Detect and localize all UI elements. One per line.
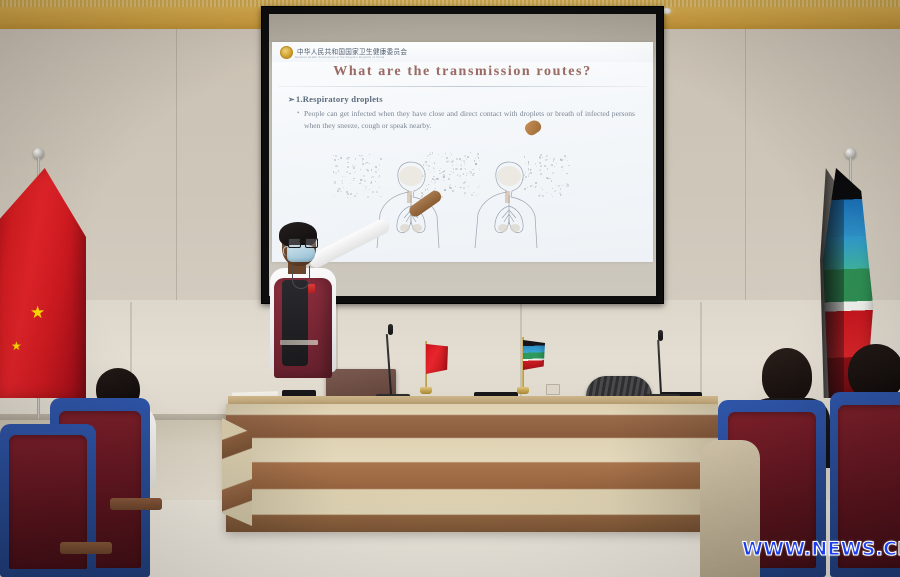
droplet-cloud-left: [332, 154, 380, 198]
microphone-neck: [657, 340, 661, 394]
glasses-lens: [288, 238, 301, 248]
slide-bullet: • People can get infected when they have…: [304, 108, 635, 133]
glasses-lens: [305, 238, 318, 248]
desk-flag-china: [420, 341, 450, 397]
slide-divider: [278, 86, 647, 87]
presenter-lanyard: [292, 266, 310, 289]
presenter: [258, 222, 418, 408]
wall-seam: [176, 29, 177, 329]
desk-flag-cloth-china: [426, 344, 448, 374]
presenter-vest-strap: [280, 340, 318, 345]
tablecloth-corner-fold: [222, 418, 252, 526]
bullet-arrow-icon: ➢: [288, 95, 295, 104]
tablecloth-shading: [226, 404, 718, 532]
news-watermark: WWW.NEWS.CN: [742, 538, 900, 560]
slide-title: What are the transmission routes?: [272, 64, 653, 80]
presenter-badge: [308, 284, 315, 293]
slide-heading-text: 1.Respiratory droplets: [296, 94, 383, 104]
flag-star-icon: ★: [11, 340, 22, 352]
flag-star-icon: ★: [30, 304, 45, 321]
microphone-right: [642, 330, 682, 406]
slide-heading: ➢1.Respiratory droplets: [288, 94, 383, 104]
screen-top-band: [269, 14, 656, 42]
seat-armrest: [110, 498, 162, 510]
droplet-cloud-right: [522, 154, 570, 196]
slide-org-name-en: National Health Commission of the People…: [295, 55, 384, 59]
slide-bullet-text: People can get infected when they have c…: [304, 109, 635, 130]
presenter-vest-panel: [282, 280, 308, 366]
presenter-glasses-icon: [288, 238, 317, 246]
desk-flag-base: [420, 387, 432, 394]
bullet-dot-icon: •: [297, 108, 299, 119]
wall-seam: [745, 29, 746, 329]
desk-flag-cloth-south-sudan: [523, 340, 545, 370]
desk-flag-base: [517, 387, 529, 394]
auditorium-seat: [0, 424, 96, 577]
attendee-head: [762, 348, 812, 404]
presenter-arm: [307, 217, 392, 270]
slide-header: 中华人民共和国国家卫生健康委员会 National Health Commiss…: [272, 42, 653, 62]
desk-flag-south-sudan: [517, 337, 547, 397]
lecture-hall-photo: 中华人民共和国国家卫生健康委员会 National Health Commiss…: [0, 0, 900, 577]
seat-armrest: [60, 542, 112, 554]
national-emblem-icon: [280, 46, 293, 59]
droplet-cloud-middle: [420, 152, 480, 196]
wall-outlet: [546, 384, 560, 395]
